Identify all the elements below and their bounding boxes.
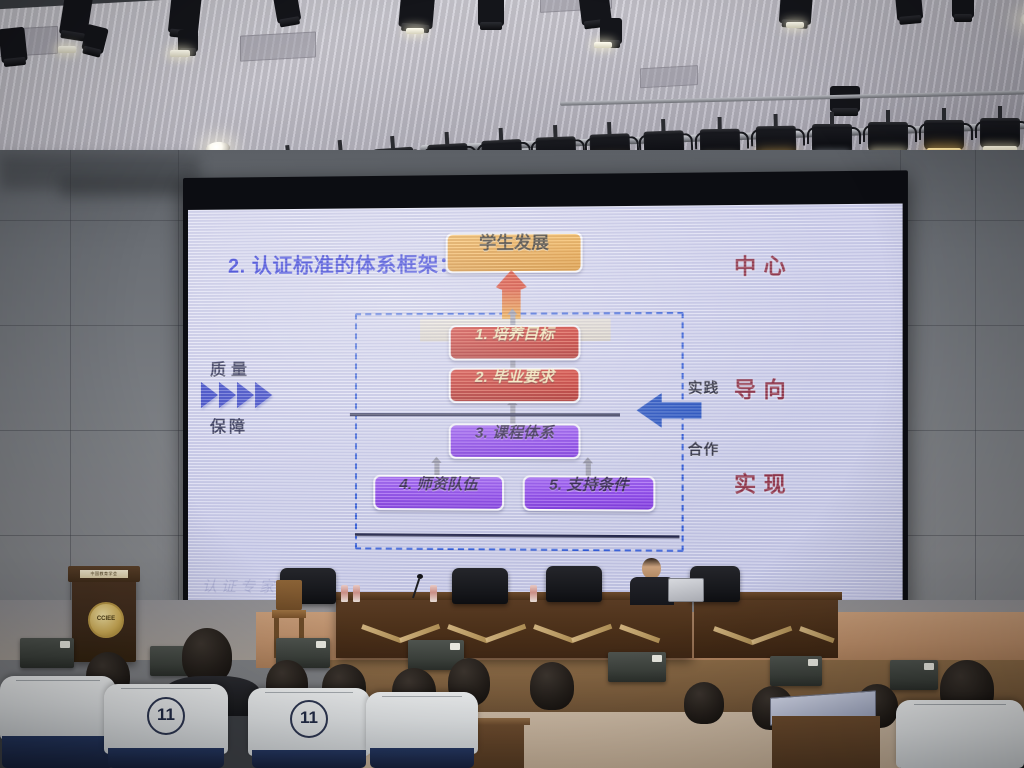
stage-chair [546, 566, 602, 602]
auditorium-photo: 2. 认证标准的体系框架： 学生发展 [0, 0, 1024, 768]
node-curriculum-system: 3. 课程体系 [449, 423, 581, 459]
node-training-objectives-label: 1. 培养目标 [451, 327, 579, 343]
node-support-conditions: 5. 支持条件 [523, 475, 656, 511]
node-faculty-team: 4. 师资队伍 [373, 475, 504, 511]
screen-surface: 2. 认证标准的体系框架： 学生发展 [188, 204, 903, 610]
connector-arrow-icon [583, 457, 594, 476]
node-faculty-team-label: 4. 师资队伍 [375, 477, 502, 493]
water-bottle [430, 585, 437, 602]
podium-nameplate: 中国教育学会 [80, 570, 128, 578]
seat-cover [0, 676, 116, 740]
presentation-slide: 2. 认证标准的体系框架： 学生发展 [188, 204, 903, 610]
stage-monitor-speaker [20, 638, 74, 668]
audience-desk [772, 716, 880, 768]
node-graduation-requirements-label: 2. 毕业要求 [451, 370, 579, 385]
podium-emblem-text: CCIEE [90, 604, 122, 634]
node-training-objectives: 1. 培养目标 [449, 325, 581, 361]
led-screen: 2. 认证标准的体系框架： 学生发展 [183, 170, 908, 617]
stage-monitor-speaker [890, 660, 938, 690]
stage-chair [452, 568, 508, 604]
seat-base [2, 736, 114, 768]
label-practice: 实践 [688, 378, 719, 399]
stage-monitor-speaker [770, 656, 822, 686]
seat-number: 11 [147, 697, 185, 735]
water-bottle [353, 585, 360, 602]
seat-base [370, 748, 474, 768]
water-bottle [341, 585, 348, 602]
label-center: 中心 [734, 250, 793, 281]
chevron-arrows-icon [201, 382, 301, 408]
blue-left-arrow-icon [637, 393, 702, 428]
slide-watermark: 认证专家 [202, 575, 278, 597]
seat-number: 11 [290, 700, 328, 738]
seat-base [252, 750, 366, 768]
seat-cover-11: 11 [248, 688, 370, 756]
label-guarantee: 保障 [210, 413, 248, 437]
connector-arrow-icon [431, 457, 442, 476]
label-orientation: 导向 [734, 373, 793, 404]
node-student-development: 学生发展 [446, 232, 583, 274]
seat-cover [366, 692, 478, 754]
label-quality: 质量 [210, 356, 252, 380]
connector-arrow-icon [507, 309, 518, 325]
podium-emblem-icon: CCIEE [88, 602, 124, 638]
audience-head [530, 662, 574, 710]
podium-nameplate-text: 中国教育学会 [80, 570, 128, 578]
seat-cover-11: 11 [104, 684, 228, 754]
node-graduation-requirements: 2. 毕业要求 [449, 367, 581, 403]
node-curriculum-system-label: 3. 课程体系 [451, 425, 579, 440]
head-table-right [694, 598, 838, 658]
microphone-head [417, 574, 423, 579]
presenter-laptop [668, 578, 704, 602]
podium: 中国教育学会 CCIEE [72, 572, 136, 662]
seat-base [108, 748, 224, 768]
label-achievement: 实现 [734, 468, 793, 499]
slide-title: 2. 认证标准的体系框架： [228, 248, 460, 279]
head-table [336, 598, 692, 658]
node-student-development-label: 学生发展 [448, 234, 581, 252]
seat-cover [896, 700, 1024, 768]
stage-monitor-speaker [608, 652, 666, 682]
water-bottle [530, 585, 537, 602]
separator-line [350, 413, 620, 416]
label-cooperation: 合作 [688, 439, 719, 460]
audience-head [684, 682, 724, 724]
node-support-conditions-label: 5. 支持条件 [525, 477, 654, 493]
